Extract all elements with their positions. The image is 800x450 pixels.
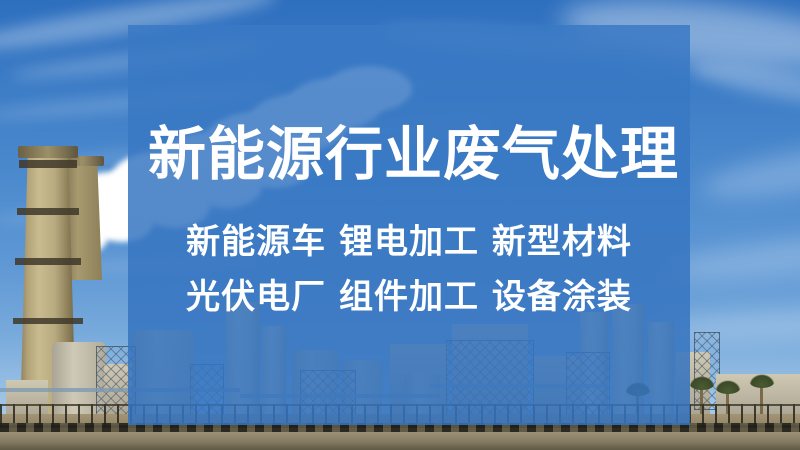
banner-subtitle-line-2: 光伏电厂 组件加工 设备涂装 [148,280,670,314]
banner-text: 新能源行业废气处理 新能源车 锂电加工 新型材料 光伏电厂 组件加工 设备涂装 [128,25,690,425]
cloud-patch [698,131,800,209]
palm-fronds [715,380,741,394]
stack-band [15,258,81,265]
stack-cap [18,146,78,158]
banner-headline: 新能源行业废气处理 [148,125,670,183]
stack-band [19,160,77,168]
stack-band [17,208,79,215]
promo-banner: 新能源行业废气处理 新能源车 锂电加工 新型材料 光伏电厂 组件加工 设备涂装 [0,0,800,450]
banner-subtitle-line-1: 新能源车 锂电加工 新型材料 [148,225,670,259]
access-road [0,432,800,450]
palm-fronds [749,374,775,388]
palm-fronds [689,376,715,390]
